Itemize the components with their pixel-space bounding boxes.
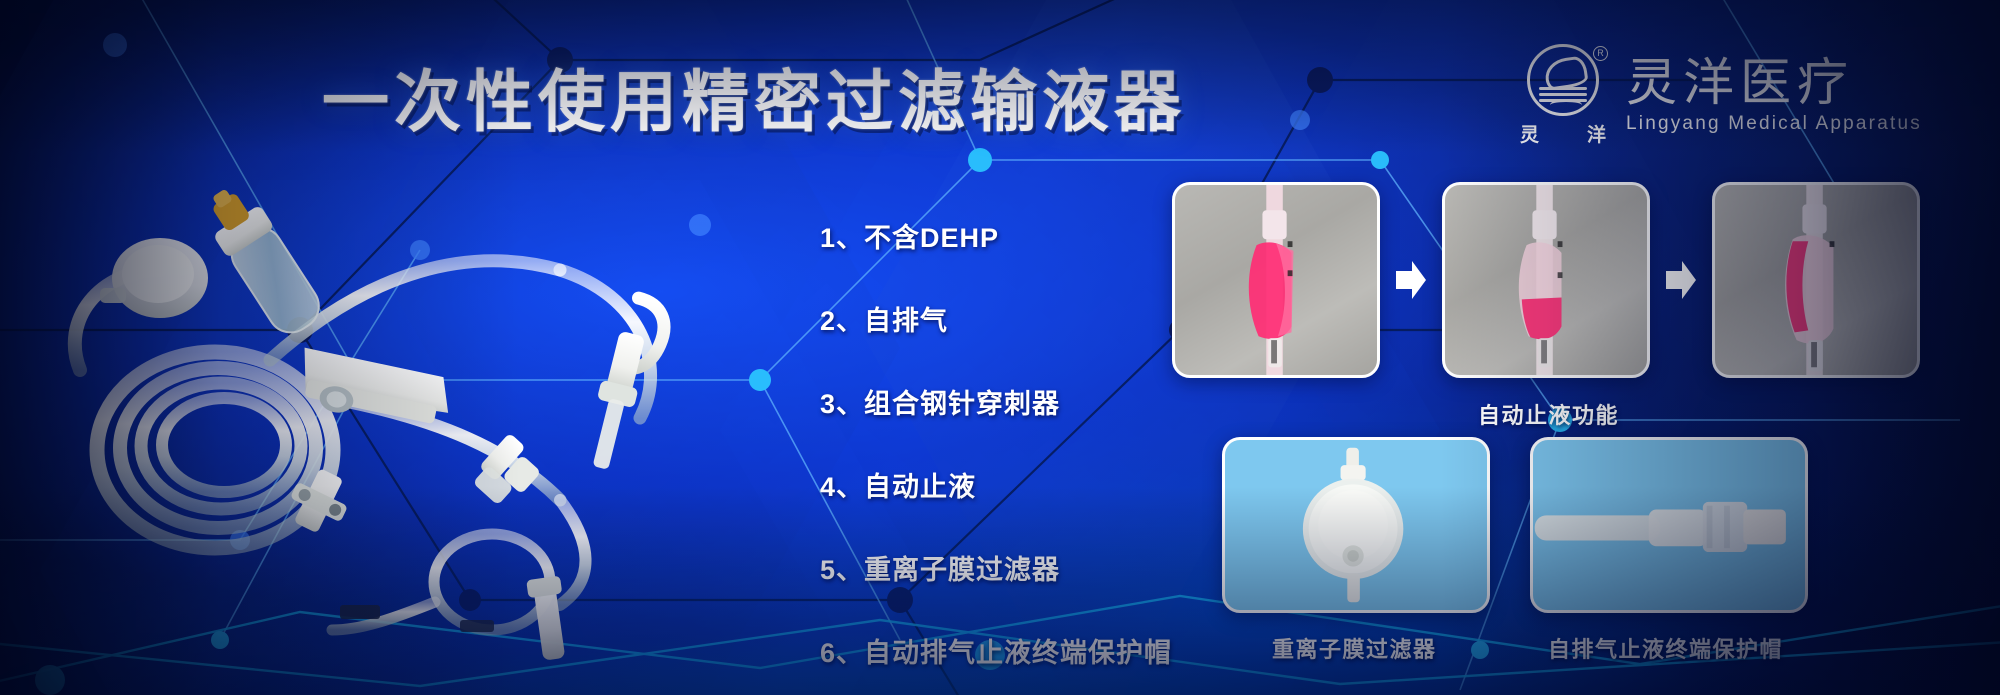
product-caption-2: 自排气止液终端保护帽 — [1548, 632, 1783, 664]
feature-item-2: 2、自排气 — [820, 299, 1172, 338]
feature-item-5: 5、重离子膜过滤器 — [820, 548, 1172, 587]
sequence-photo-step-3 — [1712, 182, 1920, 378]
feature-item-1: 1、不含DEHP — [820, 216, 1172, 255]
product-caption-1: 重离子膜过滤器 — [1272, 632, 1437, 664]
arrow-right-icon — [1394, 258, 1428, 302]
seal-right-char: 洋 — [1587, 120, 1606, 147]
brand-logo: R 灵 洋 灵洋医疗 Lingyang Medical Apparatus — [1520, 44, 1922, 147]
brand-name-en: Lingyang Medical Apparatus — [1626, 113, 1922, 135]
wave-line-icon — [1539, 93, 1587, 96]
seal-caption: 灵 洋 — [1520, 120, 1606, 147]
sequence-caption: 自动止液功能 — [1478, 398, 1619, 430]
infusion-set-product-photo — [40, 150, 760, 670]
product-photo-auto-exhaust-stop-terminal-cap — [1530, 437, 1808, 613]
banner-root: 一次性使用精密过滤输液器 R 灵 洋 灵洋医疗 Lingyang Medical… — [0, 0, 2000, 695]
arrow-right-icon — [1664, 258, 1698, 302]
brand-name-cn: 灵洋医疗 — [1626, 56, 1922, 110]
mound-icon — [1550, 99, 1582, 111]
product-photo-heavy-ion-membrane-filter — [1222, 437, 1490, 613]
seal-left-char: 灵 — [1520, 120, 1539, 147]
wave-line-icon — [1539, 87, 1587, 90]
registered-trademark-icon: R — [1593, 46, 1608, 61]
feature-list: 1、不含DEHP 2、自排气 3、组合钢针穿刺器 4、自动止液 5、重离子膜过滤… — [820, 216, 1172, 695]
seal-circle-icon — [1527, 44, 1599, 116]
fish-icon — [1543, 55, 1589, 91]
feature-item-3: 3、组合钢针穿刺器 — [820, 382, 1172, 421]
sequence-photo-step-1 — [1172, 182, 1380, 378]
page-title: 一次性使用精密过滤输液器 — [322, 48, 1186, 145]
brand-name-block: 灵洋医疗 Lingyang Medical Apparatus — [1626, 56, 1922, 136]
brand-seal-mark: R 灵 洋 — [1520, 44, 1606, 147]
feature-item-4: 4、自动止液 — [820, 465, 1172, 504]
sequence-photo-step-2 — [1442, 182, 1650, 378]
feature-item-6: 6、自动排气止液终端保护帽 — [820, 631, 1172, 670]
